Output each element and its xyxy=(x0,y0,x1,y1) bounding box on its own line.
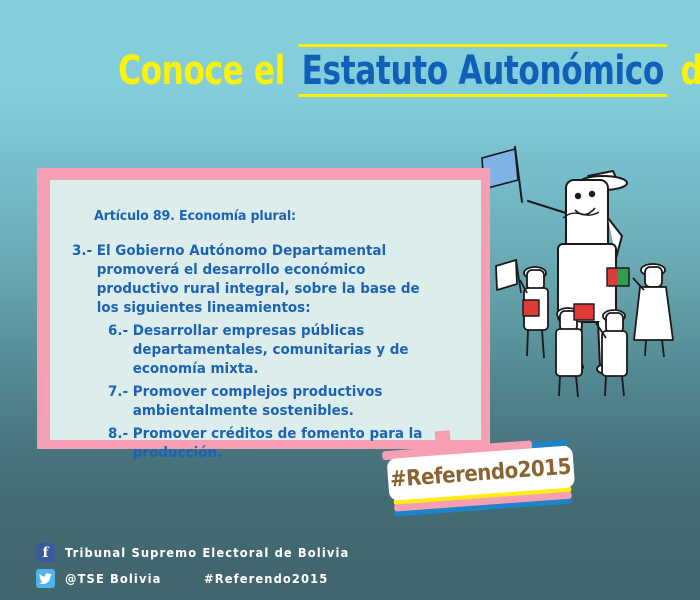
article-card: Artículo 89. Economía plural: 3.- El Gob… xyxy=(37,168,490,449)
title-part-3: de Cochabamba xyxy=(681,48,700,94)
article-heading: Artículo 89. Economía plural: xyxy=(94,208,433,224)
clause-text: El Gobierno Autónomo Departamental promo… xyxy=(97,242,428,318)
twitter-handle: @TSE Bolivia xyxy=(65,571,161,586)
facebook-row[interactable]: f Tribunal Supremo Electoral de Bolivia xyxy=(36,543,374,562)
page-title: Conoce el Estatuto Autonómico de Cochaba… xyxy=(0,46,700,98)
poster-canvas: Conoce el Estatuto Autonómico de Cochaba… xyxy=(0,0,700,600)
clause-number: 6.- xyxy=(108,322,133,379)
clause-text: Promover complejos productivos ambiental… xyxy=(133,383,431,421)
clause-item: 7.- Promover complejos productivos ambie… xyxy=(108,383,431,421)
facebook-label: Tribunal Supremo Electoral de Bolivia xyxy=(65,545,349,560)
twitter-icon[interactable] xyxy=(36,569,55,588)
clause-item: 6.- Desarrollar empresas públicas depart… xyxy=(108,322,431,379)
clause-number: 3.- xyxy=(72,242,97,318)
clause-text: Desarrollar empresas públicas departamen… xyxy=(133,322,431,379)
clause-number: 7.- xyxy=(108,383,133,421)
article-card-body: Artículo 89. Economía plural: 3.- El Gob… xyxy=(50,180,481,440)
cartoon-crowd-with-flags-illustration xyxy=(470,118,700,408)
clause-item: 3.- El Gobierno Autónomo Departamental p… xyxy=(72,242,428,318)
hashtag-badge: #Referendo2015 xyxy=(386,437,580,513)
twitter-row[interactable]: @TSE Bolivia #Referendo2015 xyxy=(36,569,339,588)
badge-label: #Referendo2015 xyxy=(390,454,573,492)
title-part-1: Conoce el xyxy=(118,48,285,94)
title-part-2-highlight: Estatuto Autonómico xyxy=(299,44,668,97)
twitter-hashtag: #Referendo2015 xyxy=(204,571,328,586)
clause-number: 8.- xyxy=(108,425,133,463)
footer-bar: f Tribunal Supremo Electoral de Bolivia … xyxy=(0,538,700,600)
facebook-icon[interactable]: f xyxy=(36,543,55,562)
